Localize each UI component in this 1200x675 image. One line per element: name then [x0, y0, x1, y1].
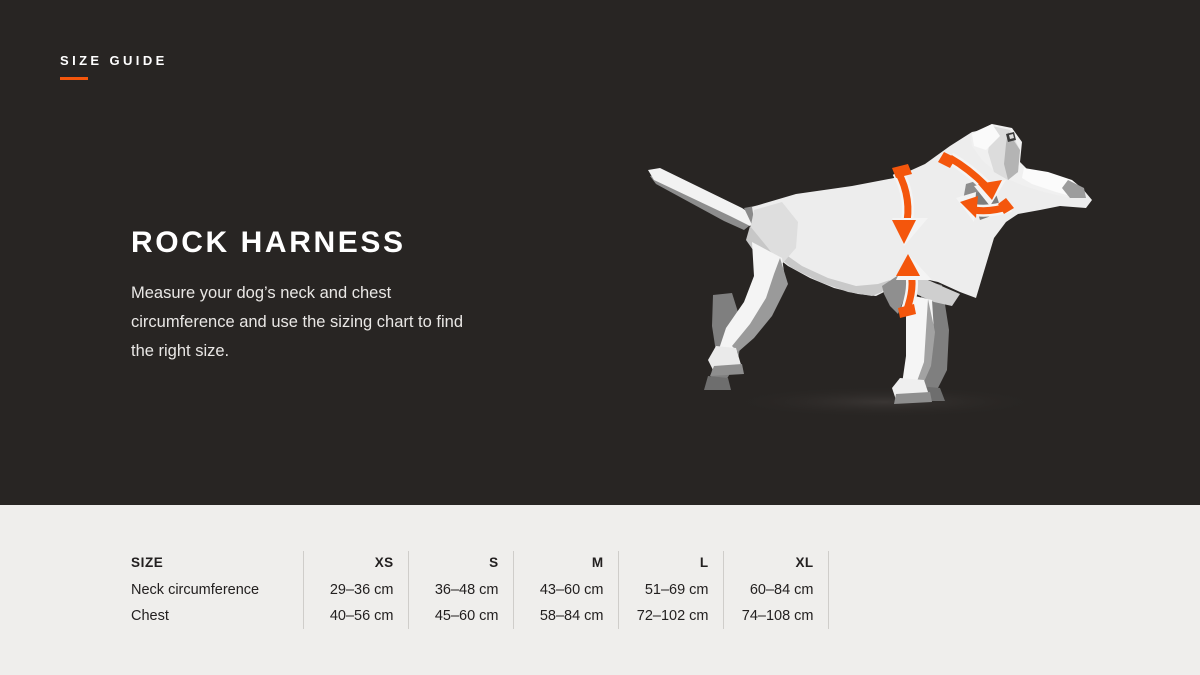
size-chart-header-row: SIZE XS S M L XL [131, 551, 829, 577]
cell-chest-xl: 74–108 cm [723, 603, 828, 629]
size-chart: SIZE XS S M L XL Neck circumference 29–3… [131, 551, 821, 629]
cell-chest-l: 72–102 cm [618, 603, 723, 629]
column-header-l: L [618, 551, 723, 577]
column-header-size: SIZE [131, 551, 303, 577]
eyebrow-label: SIZE GUIDE [60, 53, 168, 68]
ground-shadow [725, 386, 1045, 418]
row-end-rule [828, 577, 829, 603]
cell-neck-s: 36–48 cm [408, 577, 513, 603]
footer-section: SIZE XS S M L XL Neck circumference 29–3… [0, 505, 1200, 675]
cell-chest-s: 45–60 cm [408, 603, 513, 629]
page-title: ROCK HARNESS [131, 226, 406, 260]
cell-neck-l: 51–69 cm [618, 577, 723, 603]
cell-chest-xs: 40–56 cm [303, 603, 408, 629]
tail [648, 168, 760, 226]
hero-section: SIZE GUIDE ROCK HARNESS Measure your dog… [0, 0, 1200, 505]
row-end-rule [828, 603, 829, 629]
row-label-chest: Chest [131, 603, 303, 629]
column-header-xs: XS [303, 551, 408, 577]
cell-neck-xl: 60–84 cm [723, 577, 828, 603]
column-header-s: S [408, 551, 513, 577]
table-row: Chest 40–56 cm 45–60 cm 58–84 cm 72–102 … [131, 603, 829, 629]
column-header-end-rule [828, 551, 829, 577]
row-label-neck: Neck circumference [131, 577, 303, 603]
cell-neck-m: 43–60 cm [513, 577, 618, 603]
column-header-m: M [513, 551, 618, 577]
size-chart-table: SIZE XS S M L XL Neck circumference 29–3… [131, 551, 829, 629]
column-header-xl: XL [723, 551, 828, 577]
dog-side-profile-illustration [620, 80, 1120, 440]
eyebrow-accent-rule [60, 77, 88, 80]
far-hind-paw [704, 376, 731, 390]
cell-neck-xs: 29–36 cm [303, 577, 408, 603]
table-row: Neck circumference 29–36 cm 36–48 cm 43–… [131, 577, 829, 603]
size-guide-page: SIZE GUIDE ROCK HARNESS Measure your dog… [0, 0, 1200, 675]
page-subtitle: Measure your dog’s neck and chest circum… [131, 279, 481, 366]
near-front-paw-shade [894, 392, 932, 404]
cell-chest-m: 58–84 cm [513, 603, 618, 629]
